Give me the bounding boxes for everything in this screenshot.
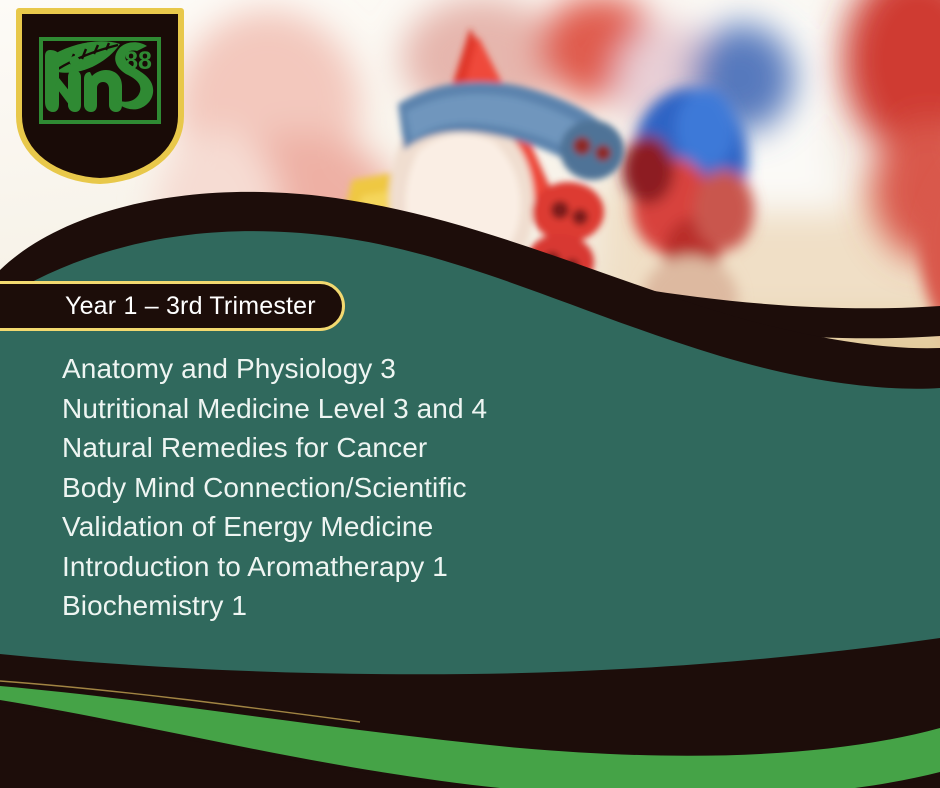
course-list-item: Biochemistry 1 [62,586,682,626]
course-list-item: Natural Remedies for Cancer [62,428,682,468]
course-card: 88 Year 1 – 3rd Trimester Anatomy and Ph… [0,0,940,788]
course-list-item: Anatomy and Physiology 3 [62,349,682,389]
course-list: Anatomy and Physiology 3 Nutritional Med… [62,349,682,626]
course-list-item: Body Mind Connection/Scientific [62,468,682,508]
trimester-badge-label: Year 1 – 3rd Trimester [65,294,316,319]
logo-year-mark: 88 [124,47,152,75]
kins-88-shield-logo[interactable]: 88 [14,6,186,186]
course-list-item: Nutritional Medicine Level 3 and 4 [62,389,682,429]
shield-shape [19,11,181,181]
trimester-badge[interactable]: Year 1 – 3rd Trimester [0,281,345,331]
course-list-item: Validation of Energy Medicine [62,507,682,547]
course-list-item: Introduction to Aromatherapy 1 [62,547,682,587]
